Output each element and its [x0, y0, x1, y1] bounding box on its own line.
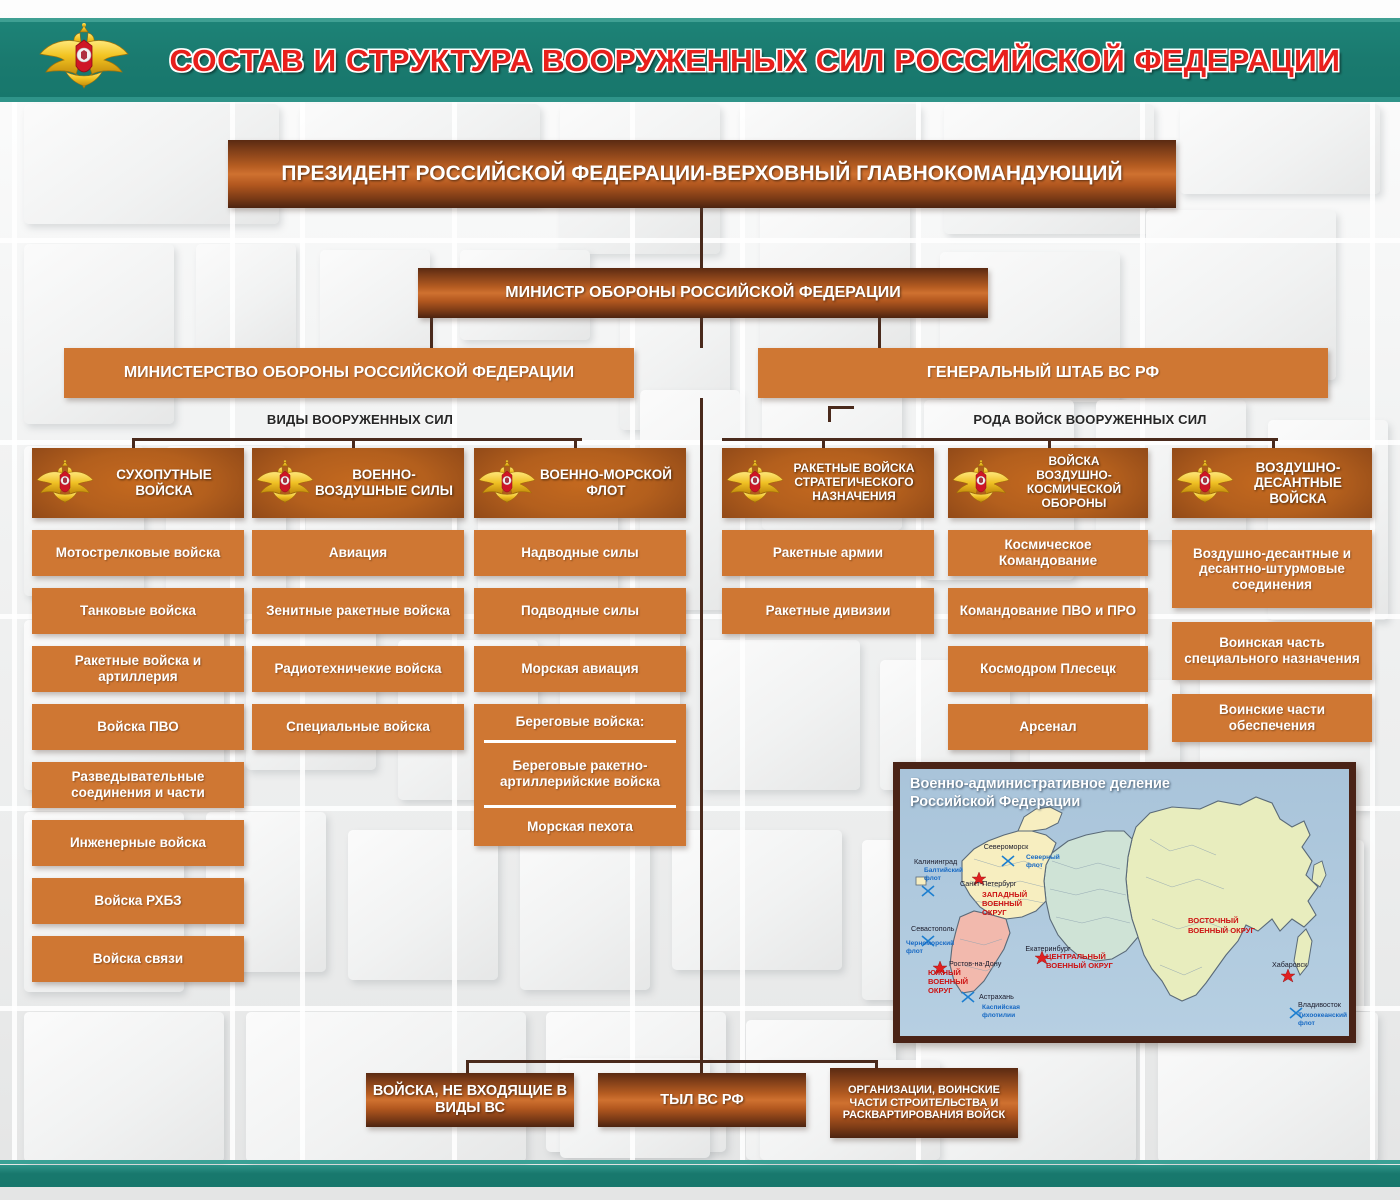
map-city-rostov: Ростов-на-Дону — [949, 959, 1002, 968]
military-districts-map: Североморск Калининград Санкт-Петербург … — [893, 762, 1356, 1043]
branch-header-label: ВОЕННО-МОРСКОЙ ФЛОТ — [536, 467, 676, 498]
section-label-left: ВИДЫ ВООРУЖЕННЫХ СИЛ — [160, 412, 560, 427]
conn-minister-down-right — [878, 318, 881, 348]
item-ground-forces-3[interactable]: Войска ПВО — [32, 704, 244, 750]
conn-rail-to-air-force — [352, 438, 355, 448]
item-air-force-3[interactable]: Специальные войска — [252, 704, 464, 750]
ministry-box[interactable]: МИНИСТЕРСТВО ОБОРОНЫ РОССИЙСКОЙ ФЕДЕРАЦИ… — [64, 348, 634, 398]
item-navy-1[interactable]: Подводные силы — [474, 588, 686, 634]
grouped-item-coastal-troops[interactable]: Береговые войска:Береговые ракетно-артил… — [474, 704, 686, 846]
conn-minister-down-center — [700, 318, 703, 348]
aerospace-defence-eagle-emblem — [952, 459, 1010, 507]
map-fleet-pacific: Тихоокеанский — [1298, 1011, 1347, 1019]
president-box[interactable]: ПРЕЗИДЕНТ РОССИЙСКОЙ ФЕДЕРАЦИИ-ВЕРХОВНЫЙ… — [228, 140, 1176, 208]
branch-header-ground-forces[interactable]: СУХОПУТНЫЕ ВОЙСКА — [32, 448, 244, 518]
map-fleet-blacksea-2: флот — [906, 948, 924, 955]
item-aerospace-defence-1[interactable]: Командование ПВО и ПРО — [948, 588, 1148, 634]
conn-trunk-main — [700, 398, 703, 1060]
branch-header-label: ВОЕННО-ВОЗДУШНЫЕ СИЛЫ — [314, 467, 454, 498]
map-city-kaliningrad: Калининград — [914, 857, 958, 866]
ground-forces-eagle-emblem — [36, 459, 94, 507]
item-aerospace-defence-3[interactable]: Арсенал — [948, 704, 1148, 750]
item-airborne-troops-0[interactable]: Воздушно-десантные и десантно-штурмовые … — [1172, 530, 1372, 608]
minister-box[interactable]: МИНИСТР ОБОРОНЫ РОССИЙСКОЙ ФЕДЕРАЦИИ — [418, 268, 988, 318]
rocket-forces-eagle-emblem — [726, 459, 784, 507]
map-title-line1: Военно-административное деление — [910, 775, 1170, 793]
map-district-southern: ЮЖНЫЙ — [928, 968, 961, 977]
conn-rail-to-ground-forces — [132, 438, 135, 448]
map-district-eastern: ВОСТОЧНЫЙ — [1188, 916, 1239, 925]
map-district-western: ЗАПАДНЫЙ — [982, 890, 1027, 899]
item-air-force-0[interactable]: Авиация — [252, 530, 464, 576]
map-city-vladivostok: Владивосток — [1298, 1000, 1342, 1009]
map-district-central: ЦЕНТРАЛЬНЫЙ — [1046, 952, 1106, 961]
item-ground-forces-7[interactable]: Войска связи — [32, 936, 244, 982]
section-label-right: РОДА ВОЙСК ВООРУЖЕННЫХ СИЛ — [830, 412, 1350, 427]
coastal-troops-subitem-1[interactable]: Морская пехота — [474, 808, 686, 846]
map-fleet-baltic-2: флот — [924, 875, 942, 882]
general-staff-box[interactable]: ГЕНЕРАЛЬНЫЙ ШТАБ ВС РФ — [758, 348, 1328, 398]
map-city-saintpetersburg: Санкт-Петербург — [960, 879, 1017, 888]
rail-right — [722, 438, 1278, 441]
bottom-box-0[interactable]: ВОЙСКА, НЕ ВХОДЯЩИЕ В ВИДЫ ВС — [366, 1073, 574, 1127]
conn-rail-to-aerospace-defence — [1048, 438, 1051, 448]
map-city-astrakhan: Астрахань — [979, 992, 1014, 1001]
branch-eagle-emblem — [36, 459, 94, 507]
conn-gs-rail-h — [828, 406, 854, 409]
item-aerospace-defence-2[interactable]: Космодром Плесецк — [948, 646, 1148, 692]
bottom-box-2[interactable]: ОРГАНИЗАЦИИ, ВОИНСКИЕ ЧАСТИ СТРОИТЕЛЬСТВ… — [830, 1068, 1018, 1138]
item-navy-0[interactable]: Надводные силы — [474, 530, 686, 576]
branch-header-navy[interactable]: ВОЕННО-МОРСКОЙ ФЛОТ — [474, 448, 686, 518]
item-air-force-1[interactable]: Зенитные ракетные войска — [252, 588, 464, 634]
map-fleet-northern: Северный — [1026, 853, 1060, 861]
map-city-sevastopol: Севастополь — [911, 924, 955, 933]
map-title-line2: Российской Федерации — [910, 793, 1170, 811]
map-fleet-blacksea: Черноморский — [906, 939, 954, 947]
branch-header-label: СУХОПУТНЫЕ ВОЙСКА — [94, 467, 234, 498]
coastal-troops-title: Береговые войска: — [474, 704, 686, 740]
map-district-southern-3: ОКРУГ — [928, 986, 953, 995]
item-strategic-rocket-forces-0[interactable]: Ракетные армии — [722, 530, 934, 576]
coastal-troops-subitem-0[interactable]: Береговые ракетно-артиллерийские войска — [474, 743, 686, 805]
branch-eagle-emblem — [726, 459, 784, 507]
branch-eagle-emblem — [1176, 459, 1234, 507]
conn-minister-down-left — [430, 318, 433, 348]
item-air-force-2[interactable]: Радиотехничекие войска — [252, 646, 464, 692]
map-fleet-caspian: Каспийская — [982, 1003, 1020, 1011]
item-ground-forces-5[interactable]: Инженерные войска — [32, 820, 244, 866]
map-fleet-baltic: Балтийский — [924, 866, 963, 874]
map-fleet-northern-2: флот — [1026, 862, 1044, 869]
branch-header-label: ВОЗДУШНО-ДЕСАНТНЫЕ ВОЙСКА — [1234, 460, 1362, 507]
air-force-eagle-emblem — [256, 459, 314, 507]
branch-header-airborne-troops[interactable]: ВОЗДУШНО-ДЕСАНТНЫЕ ВОЙСКА — [1172, 448, 1372, 518]
map-district-central-2: ВОЕННЫЙ ОКРУГ — [1046, 961, 1113, 970]
branch-eagle-emblem — [256, 459, 314, 507]
branch-header-label: РАКЕТНЫЕ ВОЙСКА СТРАТЕГИЧЕСКОГО НАЗНАЧЕН… — [784, 462, 924, 503]
map-district-southern-2: ВОЕННЫЙ — [928, 977, 968, 986]
item-ground-forces-1[interactable]: Танковые войска — [32, 588, 244, 634]
bottom-box-1[interactable]: ТЫЛ ВС РФ — [598, 1073, 806, 1127]
item-ground-forces-0[interactable]: Мотострелковые войска — [32, 530, 244, 576]
conn-rail-to-navy — [574, 438, 577, 448]
map-district-western-3: ОКРУГ — [982, 908, 1007, 917]
conn-rail-to-airborne-troops — [1272, 438, 1275, 448]
branch-eagle-emblem — [952, 459, 1010, 507]
branch-eagle-emblem — [478, 459, 536, 507]
branch-header-strategic-rocket-forces[interactable]: РАКЕТНЫЕ ВОЙСКА СТРАТЕГИЧЕСКОГО НАЗНАЧЕН… — [722, 448, 934, 518]
map-district-western-2: ВОЕННЫЙ — [982, 899, 1022, 908]
item-airborne-troops-1[interactable]: Воинская часть специального назначения — [1172, 622, 1372, 680]
airborne-eagle-emblem — [1176, 459, 1234, 507]
conn-president-to-minister — [700, 208, 703, 268]
item-ground-forces-2[interactable]: Ракетные войска и артиллерия — [32, 646, 244, 692]
map-title: Военно-административное деление Российск… — [910, 775, 1170, 811]
item-ground-forces-6[interactable]: Войска РХБЗ — [32, 878, 244, 924]
branch-header-label: ВОЙСКА ВОЗДУШНО-КОСМИЧЕСКОЙ ОБОРОНЫ — [1010, 455, 1138, 510]
branch-header-aerospace-defence[interactable]: ВОЙСКА ВОЗДУШНО-КОСМИЧЕСКОЙ ОБОРОНЫ — [948, 448, 1148, 518]
map-fleet-pacific-2: флот — [1298, 1020, 1316, 1027]
item-airborne-troops-2[interactable]: Воинские части обеспечения — [1172, 694, 1372, 742]
branch-header-air-force[interactable]: ВОЕННО-ВОЗДУШНЫЕ СИЛЫ — [252, 448, 464, 518]
navy-eagle-anchor-emblem — [478, 459, 536, 507]
item-ground-forces-4[interactable]: Разведывательные соединения и части — [32, 762, 244, 808]
rail-left — [134, 438, 582, 441]
map-fleet-caspian-2: флотилии — [982, 1012, 1015, 1019]
item-navy-2[interactable]: Морская авиация — [474, 646, 686, 692]
map-district-eastern-2: ВОЕННЫЙ ОКРУГ — [1188, 926, 1255, 935]
item-strategic-rocket-forces-1[interactable]: Ракетные дивизии — [722, 588, 934, 634]
item-aerospace-defence-0[interactable]: Космическое Командование — [948, 530, 1148, 576]
rail-bottom — [466, 1060, 878, 1063]
map-city-severomorsk: Североморск — [984, 842, 1029, 851]
conn-rail-to-strategic-rocket-forces — [822, 438, 825, 448]
map-city-khabarovsk: Хабаровск — [1272, 960, 1308, 969]
